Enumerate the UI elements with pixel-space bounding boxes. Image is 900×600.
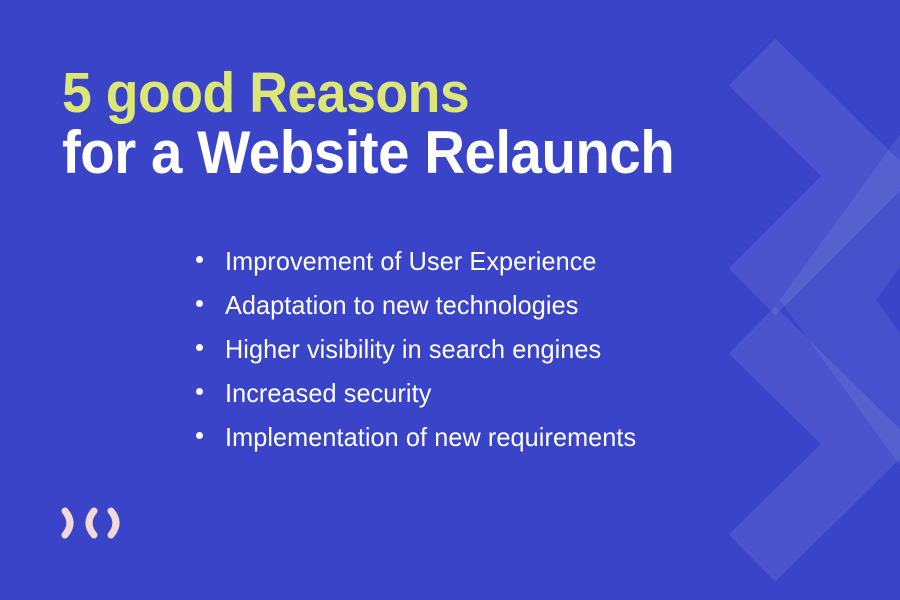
list-item: Higher visibility in search engines: [196, 334, 649, 378]
list-item-label: Higher visibility in search engines: [225, 334, 601, 365]
list-item-label: Improvement of User Experience: [225, 246, 597, 277]
bullet-icon: [196, 344, 203, 351]
list-item: Implementation of new requirements: [196, 422, 649, 466]
page-title: 5 good Reasons for a Website Relaunch: [62, 66, 862, 183]
list-item: Adaptation to new technologies: [196, 290, 649, 334]
bullet-icon: [196, 388, 203, 395]
chevron-right-icon: [111, 511, 116, 535]
headline-line-1: 5 good Reasons: [62, 66, 814, 122]
bullet-icon: [196, 300, 203, 307]
slide-canvas: 5 good Reasons for a Website Relaunch Im…: [0, 0, 900, 600]
bullet-icon: [196, 256, 203, 263]
list-item-label: Implementation of new requirements: [225, 422, 636, 453]
list-item: Improvement of User Experience: [196, 246, 649, 290]
brand-mark-logo: [60, 504, 138, 542]
decor-chevron-lower: [752, 330, 868, 558]
list-item-label: Increased security: [225, 378, 431, 409]
headline-line-2: for a Website Relaunch: [62, 124, 814, 183]
chevron-right-icon: [65, 511, 70, 535]
reasons-list: Improvement of User Experience Adaptatio…: [196, 246, 649, 466]
chevron-left-icon: [89, 511, 94, 535]
list-item: Increased security: [196, 378, 649, 422]
bullet-icon: [196, 432, 203, 439]
list-item-label: Adaptation to new technologies: [225, 290, 578, 321]
